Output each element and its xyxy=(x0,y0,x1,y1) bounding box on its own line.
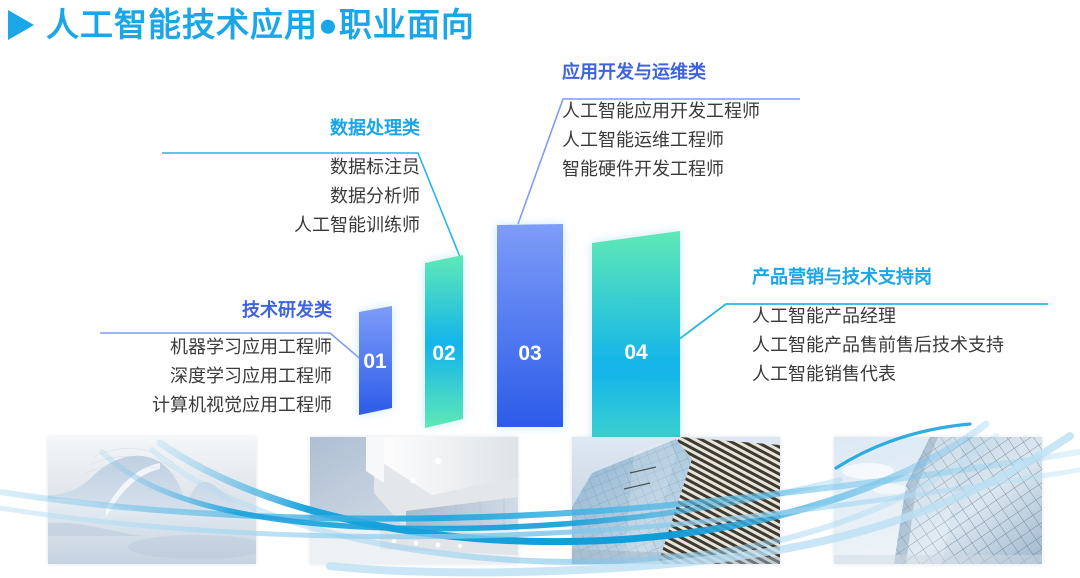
bar-03 xyxy=(497,224,563,427)
bar-number-01: 01 xyxy=(363,350,387,373)
photo-white-arch-pavilion xyxy=(48,437,256,564)
photo-glass-skyscraper-sky-art xyxy=(834,437,1042,564)
photo-glass-skyscraper-sky xyxy=(834,437,1042,564)
bar-number-04: 04 xyxy=(624,341,648,364)
photo-modern-interior-ceiling-art xyxy=(310,437,518,564)
bar-number-03: 03 xyxy=(518,342,541,365)
photo-glass-tower-striped-facade xyxy=(572,437,780,564)
photo-modern-interior-ceiling xyxy=(310,437,518,564)
photo-glass-tower-striped-facade-art xyxy=(572,437,780,564)
photo-white-arch-pavilion-art xyxy=(48,437,256,564)
slide-canvas: 人工智能技术应用●职业面向 技术研发类 机器学习应用工程师 深度学习应用工程师 … xyxy=(0,0,1080,578)
bar-number-02: 02 xyxy=(432,342,455,365)
